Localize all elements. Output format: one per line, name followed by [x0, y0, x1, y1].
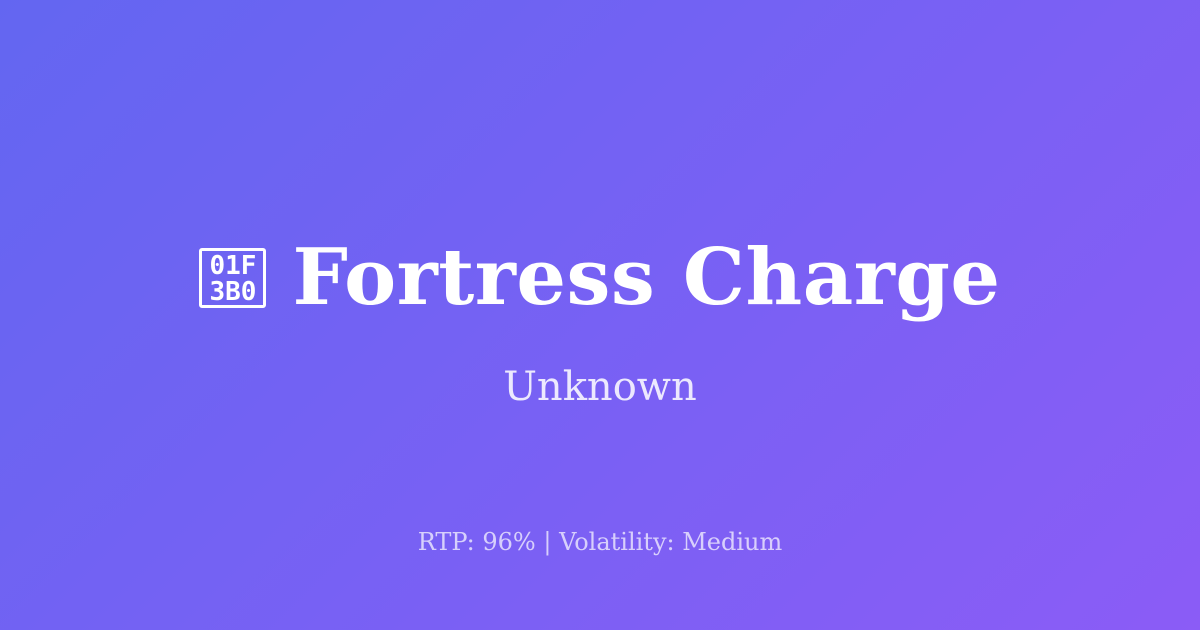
provider-subtitle: Unknown: [0, 362, 1200, 412]
slot-machine-icon: 01F 3B0: [199, 248, 266, 308]
page-title: Fortress Charge: [292, 234, 1000, 322]
game-stats-meta: RTP: 96% | Volatility: Medium: [0, 527, 1200, 557]
title-row: 01F 3B0 Fortress Charge: [0, 232, 1200, 324]
codepoint-hex-top: 01F: [209, 253, 256, 279]
og-share-card: 01F 3B0 Fortress Charge Unknown RTP: 96%…: [0, 0, 1200, 630]
codepoint-hex-bottom: 3B0: [209, 279, 256, 305]
